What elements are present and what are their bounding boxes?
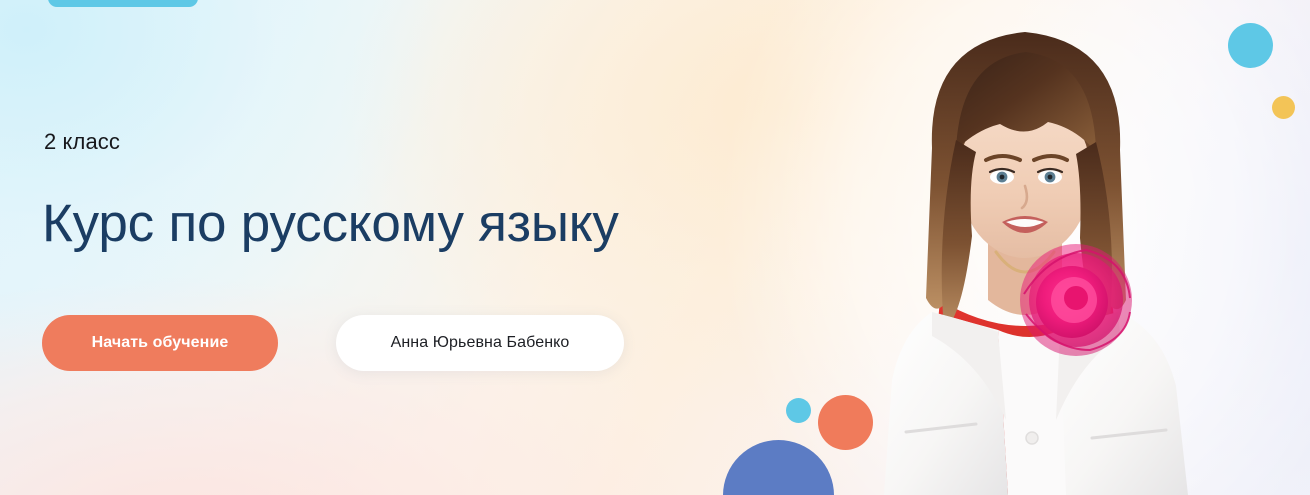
course-hero-banner: 2 класс Курс по русскому языку Начать об…: [0, 0, 1310, 495]
teacher-photo: [880, 0, 1280, 495]
decorative-circle-orange: [818, 395, 873, 450]
start-learning-button[interactable]: Начать обучение: [42, 315, 278, 371]
grade-label: 2 класс: [44, 127, 120, 157]
decorative-circle-cyan-top-right: [1228, 23, 1273, 68]
decorative-circle-yellow-top-right: [1272, 96, 1295, 119]
hero-action-row: Начать обучение Анна Юрьевна Бабенко: [42, 315, 624, 371]
hero-text-block: 2 класс Курс по русскому языку: [44, 0, 764, 495]
decorative-circle-cyan-small: [786, 398, 811, 423]
teacher-name-chip[interactable]: Анна Юрьевна Бабенко: [336, 315, 624, 371]
page-title: Курс по русскому языку: [42, 192, 619, 256]
